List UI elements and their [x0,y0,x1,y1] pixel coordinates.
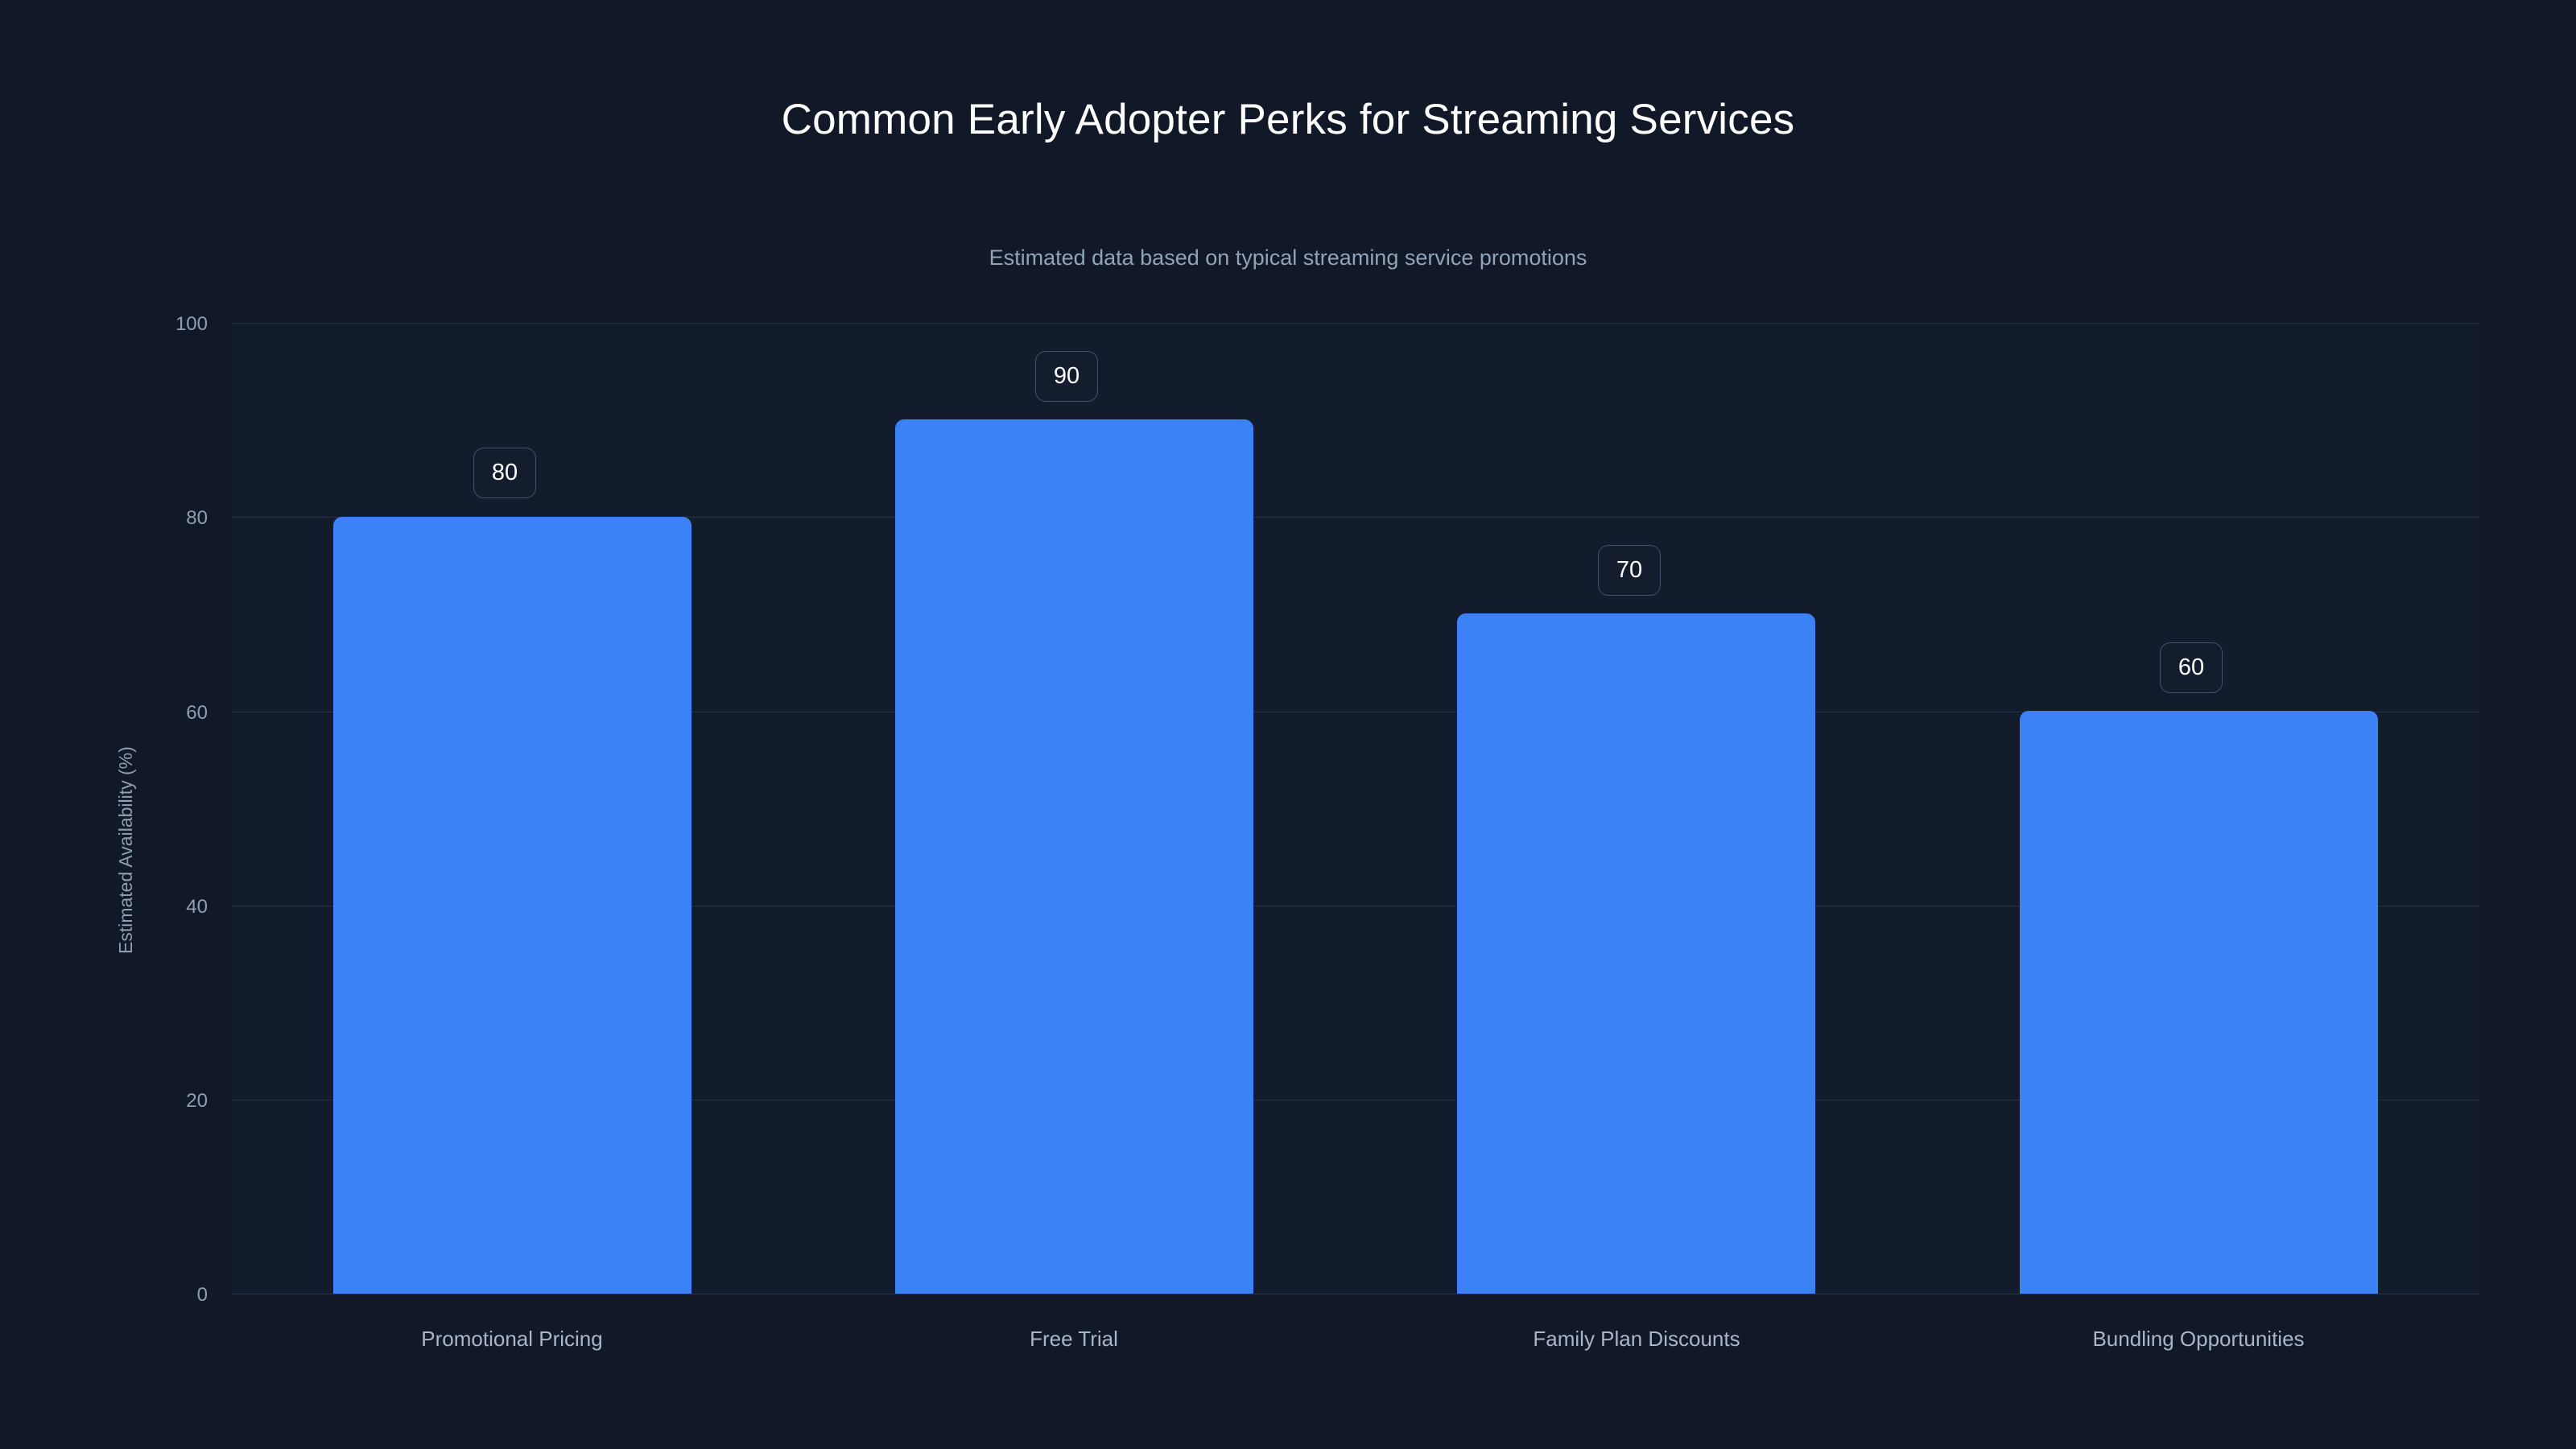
x-tick-label-free-trial: Free Trial [1030,1327,1118,1352]
y-tick-label-100: 100 [121,313,208,336]
bar-free-trial[interactable] [895,419,1253,1294]
data-label-family-plan-discounts: 70 [1598,545,1661,596]
data-label-promotional-pricing: 80 [473,448,536,498]
x-tick-label-promotional-pricing: Promotional Pricing [421,1327,602,1352]
y-tick-label-0: 0 [121,1284,208,1307]
y-axis-title: Estimated Availability (%) [115,746,137,954]
x-tick-label-family-plan-discounts: Family Plan Discounts [1533,1327,1740,1352]
data-label-free-trial: 90 [1035,351,1098,402]
chart-subtitle: Estimated data based on typical streamin… [0,246,2576,270]
y-tick-label-80: 80 [121,507,208,530]
chart-title: Common Early Adopter Perks for Streaming… [0,95,2576,144]
bar-bundling-opportunities[interactable] [2020,711,2378,1294]
bar-family-plan-discounts[interactable] [1457,613,1815,1294]
gridline-100 [232,323,2479,324]
chart-figure: Common Early Adopter Perks for Streaming… [0,0,2576,1449]
bar-promotional-pricing[interactable] [333,517,691,1294]
y-tick-label-40: 40 [121,896,208,919]
y-tick-label-60: 60 [121,702,208,724]
plot-area [232,323,2479,1294]
y-tick-label-20: 20 [121,1090,208,1113]
x-tick-label-bundling-opportunities: Bundling Opportunities [2092,1327,2304,1352]
gridline-0 [232,1294,2479,1294]
data-label-bundling-opportunities: 60 [2160,642,2223,693]
